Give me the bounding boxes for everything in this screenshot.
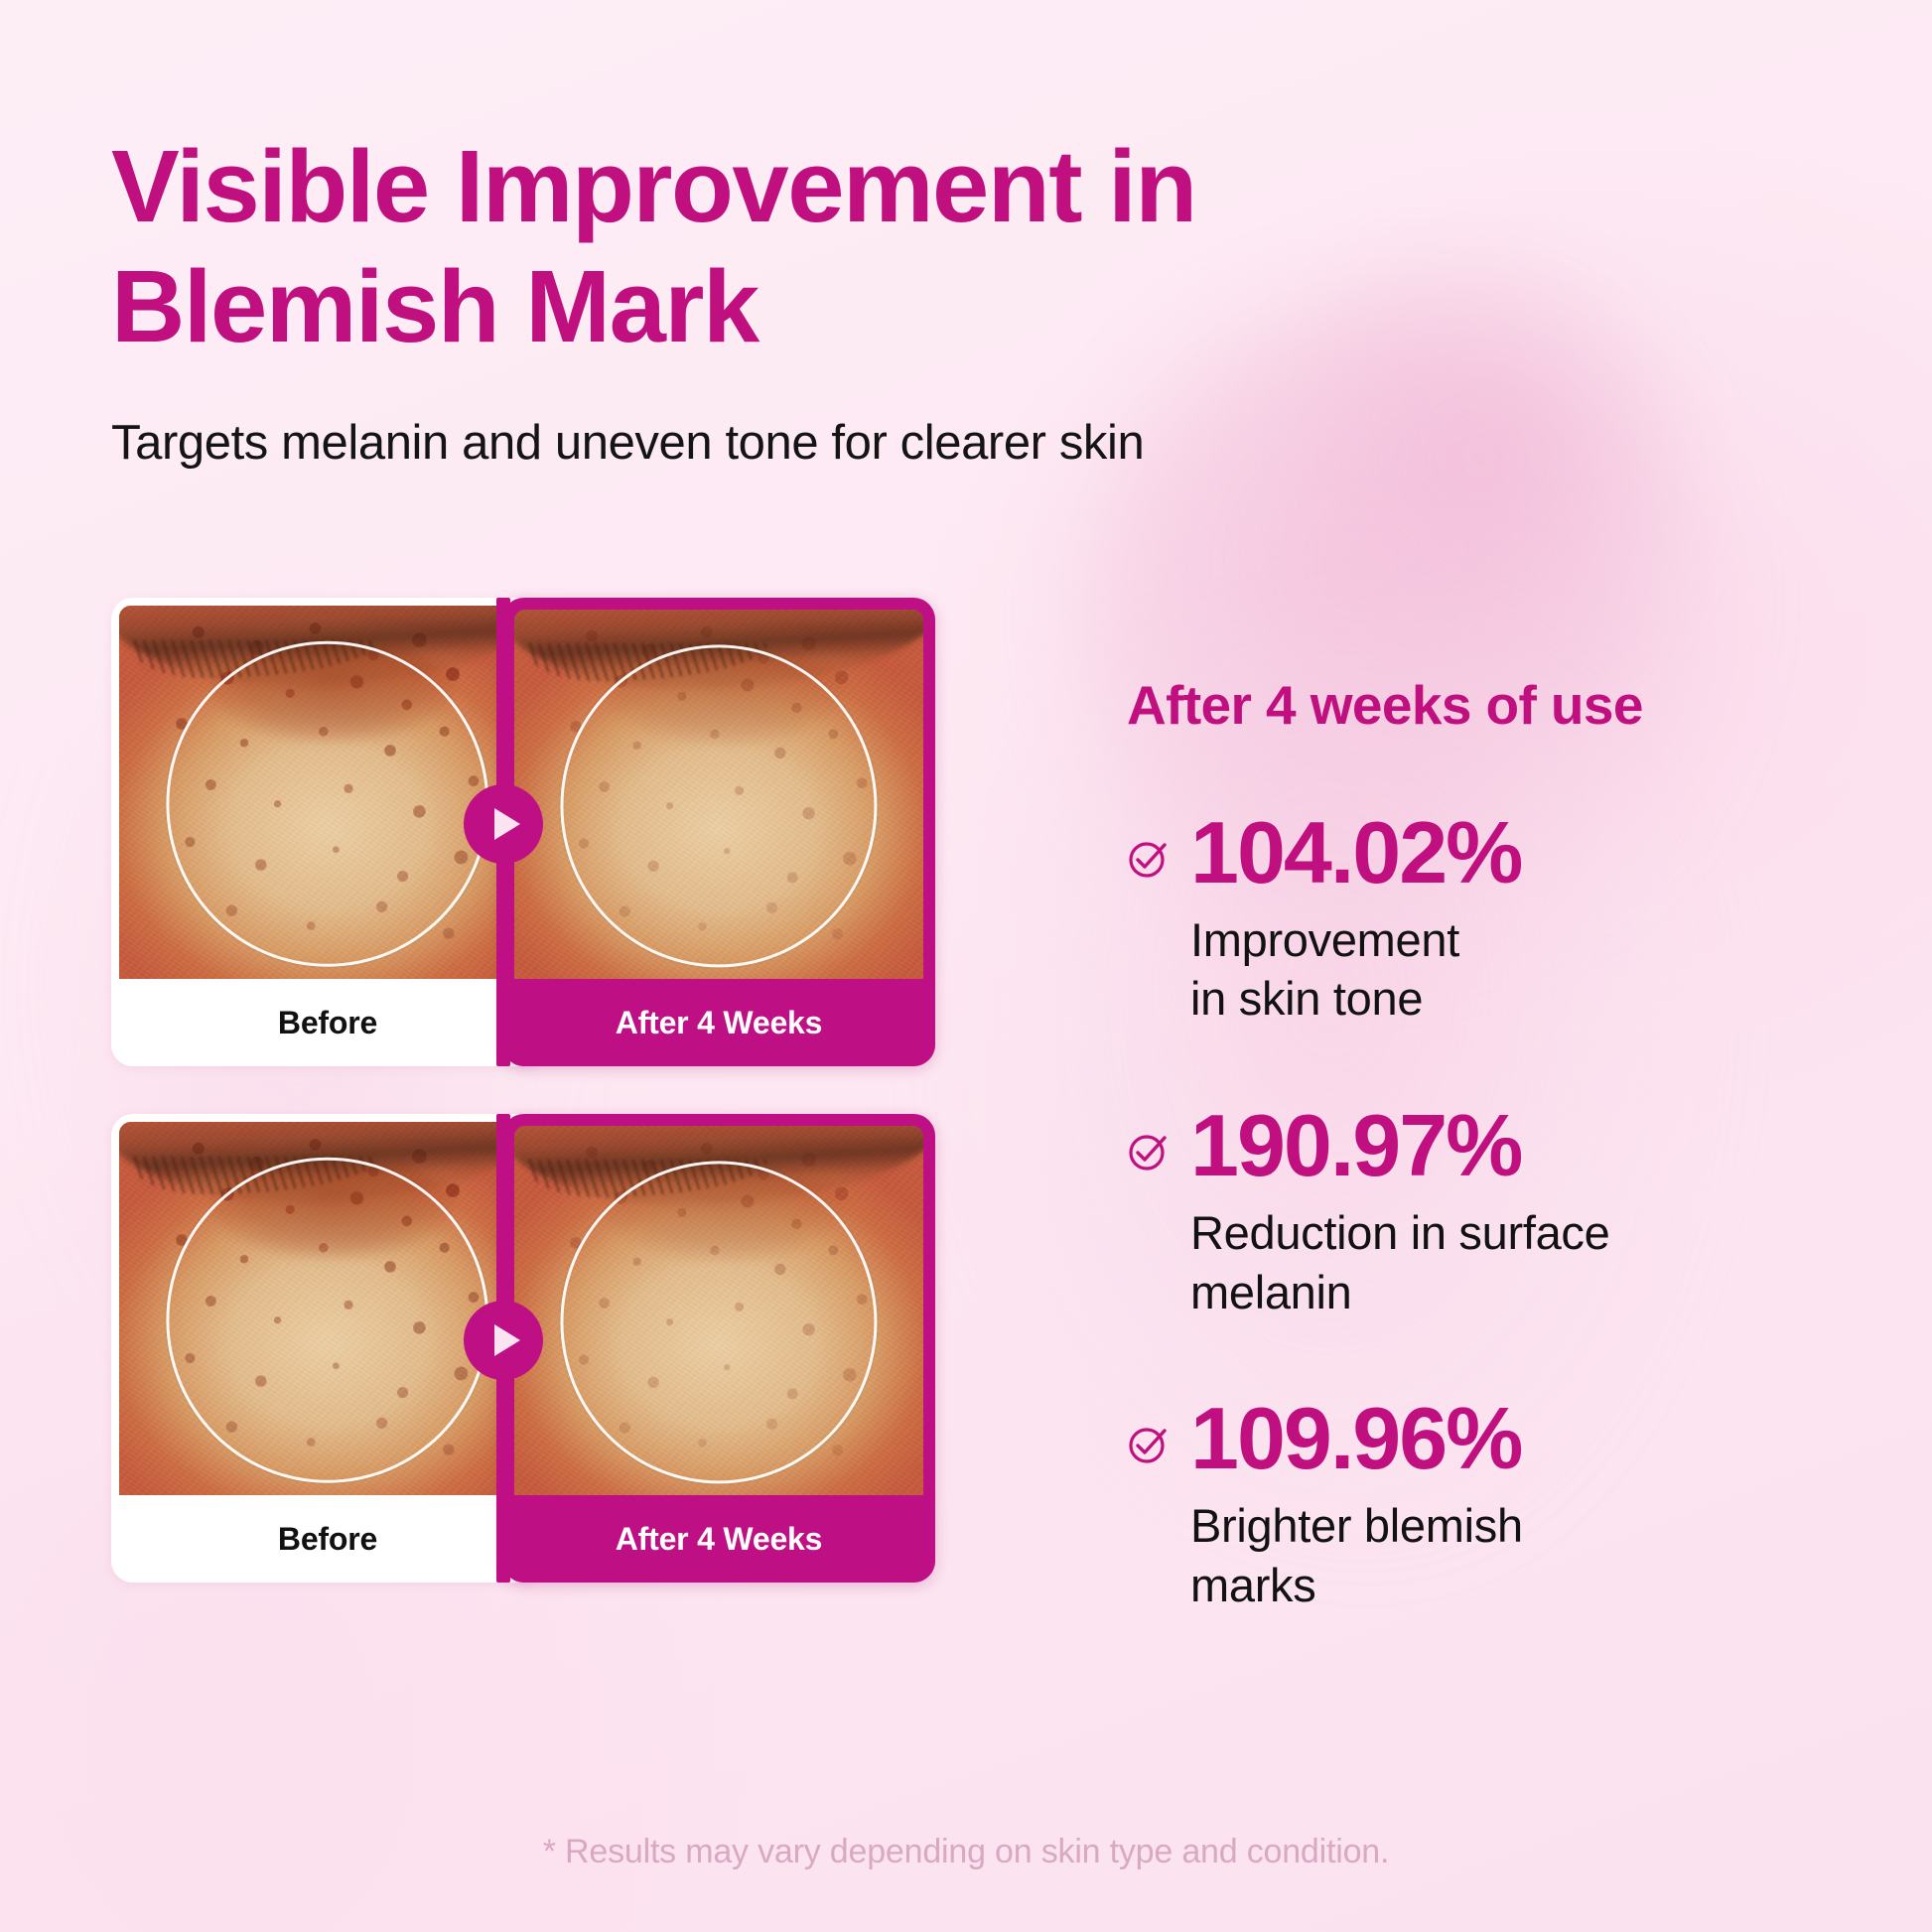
stat-item: 109.96% Brighter blemish marks: [1127, 1395, 1881, 1614]
page-title: Visible Improvement in Blemish Mark: [111, 127, 1303, 366]
stat-value: 104.02%: [1190, 809, 1881, 897]
play-arrow-icon[interactable]: [464, 784, 543, 864]
stat-item: 104.02% Improvement in skin tone: [1127, 809, 1881, 1029]
after-label: After 4 Weeks: [502, 979, 935, 1066]
comparison-row: Before After 4 Weeks: [111, 598, 1025, 1066]
check-circle-icon: [1127, 837, 1171, 881]
stat-value: 109.96%: [1190, 1395, 1881, 1482]
disclaimer-footnote: * Results may vary depending on skin typ…: [0, 1833, 1932, 1871]
stat-label: Reduction in surface melanin: [1190, 1203, 1881, 1321]
after-photo: [514, 610, 923, 987]
stat-value: 190.97%: [1190, 1102, 1881, 1189]
before-label: Before: [111, 1495, 544, 1583]
stat-item: 190.97% Reduction in surface melanin: [1127, 1102, 1881, 1321]
after-pane[interactable]: After 4 Weeks: [502, 598, 935, 1066]
stat-body: 109.96% Brighter blemish marks: [1190, 1395, 1881, 1614]
stat-label: Brighter blemish marks: [1190, 1496, 1881, 1614]
stats-panel: After 4 weeks of use 104.02% Improvement…: [1127, 675, 1881, 1615]
after-label: After 4 Weeks: [502, 1495, 935, 1583]
check-circle-icon: [1127, 1423, 1171, 1466]
triangle-glyph: [494, 1324, 520, 1356]
stats-heading: After 4 weeks of use: [1127, 675, 1881, 736]
triangle-glyph: [494, 808, 520, 840]
play-arrow-icon[interactable]: [464, 1301, 543, 1380]
after-photo: [514, 1126, 923, 1503]
check-circle-icon: [1127, 1130, 1171, 1173]
comparison-gallery: Before After 4 Weeks: [111, 598, 1025, 1630]
stat-label: Improvement in skin tone: [1190, 910, 1881, 1029]
after-pane[interactable]: After 4 Weeks: [502, 1114, 935, 1583]
stat-body: 104.02% Improvement in skin tone: [1190, 809, 1881, 1029]
stat-body: 190.97% Reduction in surface melanin: [1190, 1102, 1881, 1321]
comparison-row: Before After 4 Weeks: [111, 1114, 1025, 1583]
infographic-page: Visible Improvement in Blemish Mark Targ…: [0, 0, 1932, 1932]
header: Visible Improvement in Blemish Mark Targ…: [111, 127, 1303, 476]
before-label: Before: [111, 979, 544, 1066]
page-subtitle: Targets melanin and uneven tone for clea…: [111, 412, 1303, 476]
